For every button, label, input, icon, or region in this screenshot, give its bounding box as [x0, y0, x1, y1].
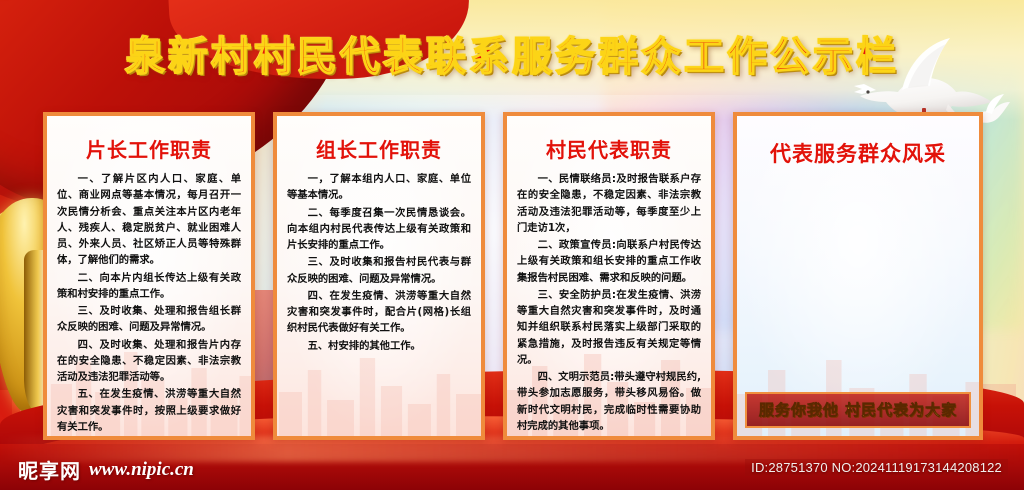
site-watermark: 昵享网 www.nipic.cn	[18, 455, 194, 484]
panel-paragraph: 四、在发生疫情、洪涝等重大自然灾害和突发事件时，配合片(网格)长组织村民代表做好…	[287, 288, 471, 337]
tagline-banner: 服务你我他 村民代表为大家	[745, 392, 971, 428]
panel-paragraph: 三、及时收集、处理和报告组长群众反映的困难、问题及异常情况。	[57, 303, 241, 336]
panel-title: 代表服务群众风采	[747, 138, 969, 168]
panel-body: 一、民情联络员:及时报告联系户存在的安全隐患，不稳定因素、非法宗教活动及违法犯罪…	[517, 171, 701, 434]
panel-zuzhang-duties[interactable]: 组长工作职责 一，了解本组内人口、家庭、单位等基本情况。 二、每季度召集一次民情…	[273, 112, 485, 440]
panel-daibiao-duties[interactable]: 村民代表职责 一、民情联络员:及时报告联系户存在的安全隐患，不稳定因素、非法宗教…	[503, 112, 715, 440]
panel-paragraph: 二、每季度召集一次民情恳谈会。向本组内村民代表传达上级有关政策和片长安排的重点工…	[287, 205, 471, 254]
panel-pianzhang-duties[interactable]: 片长工作职责 一、了解片区内人口、家庭、单位、商业网点等基本情况，每月召开一次民…	[43, 112, 255, 440]
panel-title: 村民代表职责	[517, 134, 701, 163]
panel-title: 片长工作职责	[57, 134, 241, 163]
panel-paragraph: 二、政策宣传员:向联系户村民传达上级有关政策和组长安排的重点工作收集报告村民困难…	[517, 237, 701, 286]
panel-paragraph: 二、向本片内组长传达上级有关政策和村安排的重点工作。	[57, 270, 241, 303]
tagline-text: 服务你我他 村民代表为大家	[759, 401, 957, 419]
panel-paragraph: 六、村安排的其他工作。	[57, 436, 241, 440]
panel-paragraph: 四、文明示范员:带头遵守村规民约,带头参加志愿服务，带头移风易俗。做新时代文明村…	[517, 369, 701, 434]
poster-stage: 泉新村村民代表联系服务群众工作公示栏 片长工作职责 一、了解片区内人口、家庭、单…	[0, 0, 1024, 490]
panel-paragraph: 五、在发生疫情、洪涝等重大自然灾害和突发事件时，按照上级要求做好有关工作。	[57, 386, 241, 435]
panel-body: 一、了解片区内人口、家庭、单位、商业网点等基本情况，每月召开一次民情分析会、重点…	[57, 171, 241, 440]
panel-body: 一，了解本组内人口、家庭、单位等基本情况。 二、每季度召集一次民情恳谈会。向本组…	[287, 171, 471, 354]
panel-paragraph: 一，了解本组内人口、家庭、单位等基本情况。	[287, 171, 471, 204]
watermark-logo-text: 昵享网	[18, 455, 81, 484]
poster-title-area: 泉新村村民代表联系服务群众工作公示栏	[0, 24, 1024, 82]
panel-paragraph: 三、及时收集和报告村民代表与群众反映的困难、问题及异常情况。	[287, 254, 471, 287]
panel-representative-gallery[interactable]: 代表服务群众风采 服务你我他 村民代表为大家	[733, 112, 983, 440]
panel-container: 片长工作职责 一、了解片区内人口、家庭、单位、商业网点等基本情况，每月召开一次民…	[0, 112, 1024, 442]
panel-paragraph: 四、及时收集、处理和报告片内存在的安全隐患、不稳定因素、非法宗教活动及违法犯罪活…	[57, 337, 241, 386]
asset-id-label: ID:28751370 NO:20241119173144208122	[745, 459, 1008, 476]
page-title: 泉新村村民代表联系服务群众工作公示栏	[125, 24, 899, 82]
panel-skyline-icon	[277, 340, 481, 436]
panel-paragraph: 一、了解片区内人口、家庭、单位、商业网点等基本情况，每月召开一次民情分析会、重点…	[57, 171, 241, 269]
panel-title: 组长工作职责	[287, 134, 471, 163]
panel-paragraph: 一、民情联络员:及时报告联系户存在的安全隐患，不稳定因素、非法宗教活动及违法犯罪…	[517, 171, 701, 236]
footer-watermark-bar: 昵享网 www.nipic.cn ID:28751370 NO:20241119…	[0, 448, 1024, 490]
panel-paragraph: 三、安全防护员:在发生疫情、洪涝等重大自然灾害和突发事件时，及时通知并组织联系村…	[517, 287, 701, 368]
panel-paragraph: 五、村安排的其他工作。	[287, 338, 471, 354]
watermark-url: www.nipic.cn	[89, 459, 194, 481]
